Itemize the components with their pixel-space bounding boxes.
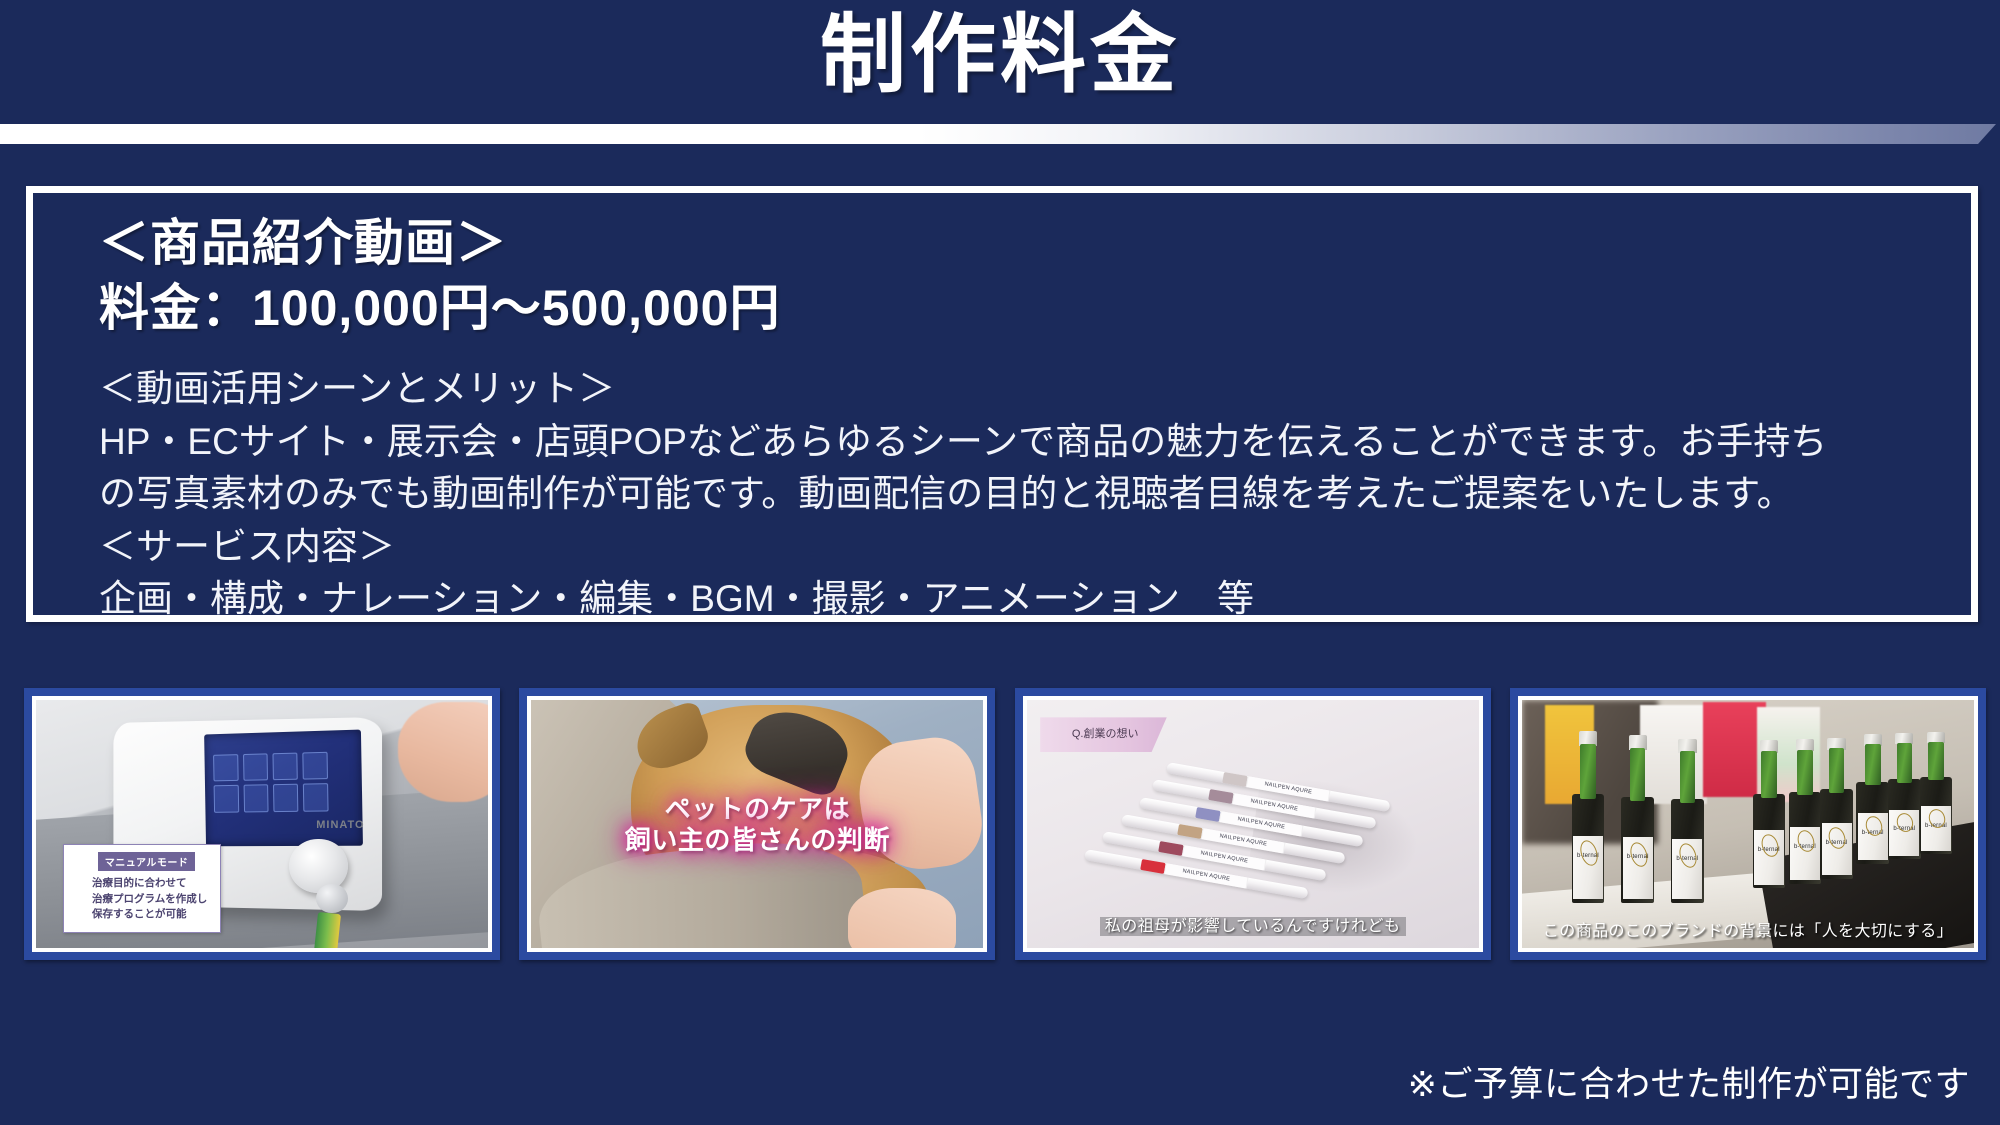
subtitle-text: 私の祖母が影響しているんですけれども [1100,917,1406,936]
video-thumbnail-strip: MINATO マニュアルモード 治療目的に合わせて 治療プログラムを作成し 保存… [24,688,1986,960]
pricing-content-box: ＜商品紹介動画＞ 料金：100,000円〜500,000円 ＜動画活用シーンとメ… [26,186,1978,622]
pricing-headline-line1: ＜商品紹介動画＞ [99,211,780,276]
bottle-item: b-ternal [1920,777,1953,854]
nailpen-label: NAILPEN AQURE [1165,863,1249,888]
photo-pet-care: ペットのケアは 飼い主の皆さんの判断 [531,700,983,948]
section2-title: ＜サービス内容＞ [99,521,1931,574]
thumbnail-frame: MINATO マニュアルモード 治療目的に合わせて 治療プログラムを作成し 保存… [32,696,492,952]
question-banner: Q.創業の想い [1040,717,1167,752]
photo-medical-device: MINATO マニュアルモード 治療目的に合わせて 治療プログラムを作成し 保存… [36,700,488,948]
bottle-item: b-ternal [1621,797,1654,904]
video-caption-card: マニュアルモード 治療目的に合わせて 治療プログラムを作成し 保存することが可能 [63,844,221,933]
power-cable [314,912,341,948]
bottle-item: b-ternal [1888,779,1921,858]
caption-line-1: 治療目的に合わせて [92,876,214,892]
pricing-headline-line2: 料金：100,000円〜500,000円 [99,276,780,341]
overlay-line-2: 飼い主の皆さんの判断 [531,825,983,856]
footer-note: ※ご予算に合わせた制作が可能です [1408,1056,1970,1107]
device-button [316,884,348,914]
thumbnail-frame: b-ternal b-ternal b-ternal [1518,696,1978,952]
thumbnail-nailpen[interactable]: NAILPEN AQURE NAILPEN AQURE NAILPEN AQUR… [1015,688,1491,960]
video-overlay-text: ペットのケアは 飼い主の皆さんの判断 [531,794,983,855]
bottle-item: b-ternal [1671,799,1704,903]
caption-lines: 治療目的に合わせて 治療プログラムを作成し 保存することが可能 [72,876,214,923]
section1-body-line2: の写真素材のみでも動画制作が可能です。動画配信の目的と視聴者目線を考えたご提案を… [99,468,1931,521]
section2-body: 企画・構成・ナレーション・編集・BGM・撮影・アニメーション 等 [99,573,1931,626]
device-brand-label: MINATO [316,819,364,831]
page-title: 制作料金 [0,8,2000,103]
thumbnail-frame: NAILPEN AQURE NAILPEN AQURE NAILPEN AQUR… [1023,696,1483,952]
caption-line-3: 保存することが可能 [92,907,214,923]
thumbnail-frame: ペットのケアは 飼い主の皆さんの判断 [527,696,987,952]
slide-root: 制作料金 ＜商品紹介動画＞ 料金：100,000円〜500,000円 ＜動画活用… [0,0,2000,1125]
video-subtitle: 私の祖母が影響しているんですけれども [1027,912,1479,936]
operator-hand [398,702,488,801]
pricing-headline: ＜商品紹介動画＞ 料金：100,000円〜500,000円 [99,211,780,341]
bottle-item: b-ternal [1789,792,1822,884]
caption-badge: マニュアルモード [98,852,196,871]
owner-hand-bottom [848,888,956,948]
section1-title: ＜動画活用シーンとメリット＞ [99,363,1931,416]
display-card-white [1640,705,1708,804]
bottle-item: b-ternal [1572,794,1605,903]
section1-body-line1: HP・ECサイト・展示会・店頭POPなどあらゆるシーンで商品の魅力を伝えることが… [99,416,1931,469]
thumbnail-medical-device[interactable]: MINATO マニュアルモード 治療目的に合わせて 治療プログラムを作成し 保存… [24,688,500,960]
video-subtitle: この商品のこのブランドの背景には「人を大切にする」 [1522,917,1974,941]
bottle-item: b-ternal [1856,782,1889,864]
thumbnail-bternal[interactable]: b-ternal b-ternal b-ternal [1510,688,1986,960]
bottle-item: b-ternal [1820,789,1853,878]
bottle-item: b-ternal [1753,794,1786,888]
title-divider-bar [0,124,1996,144]
caption-line-2: 治療プログラムを作成し [92,892,214,908]
photo-bternal: b-ternal b-ternal b-ternal [1522,700,1974,948]
thumbnail-pet-care[interactable]: ペットのケアは 飼い主の皆さんの判断 [519,688,995,960]
overlay-line-1: ペットのケアは [531,794,983,825]
pricing-body: ＜動画活用シーンとメリット＞ HP・ECサイト・展示会・店頭POPなどあらゆるシ… [99,363,1931,626]
photo-nailpen: NAILPEN AQURE NAILPEN AQURE NAILPEN AQUR… [1027,700,1479,948]
